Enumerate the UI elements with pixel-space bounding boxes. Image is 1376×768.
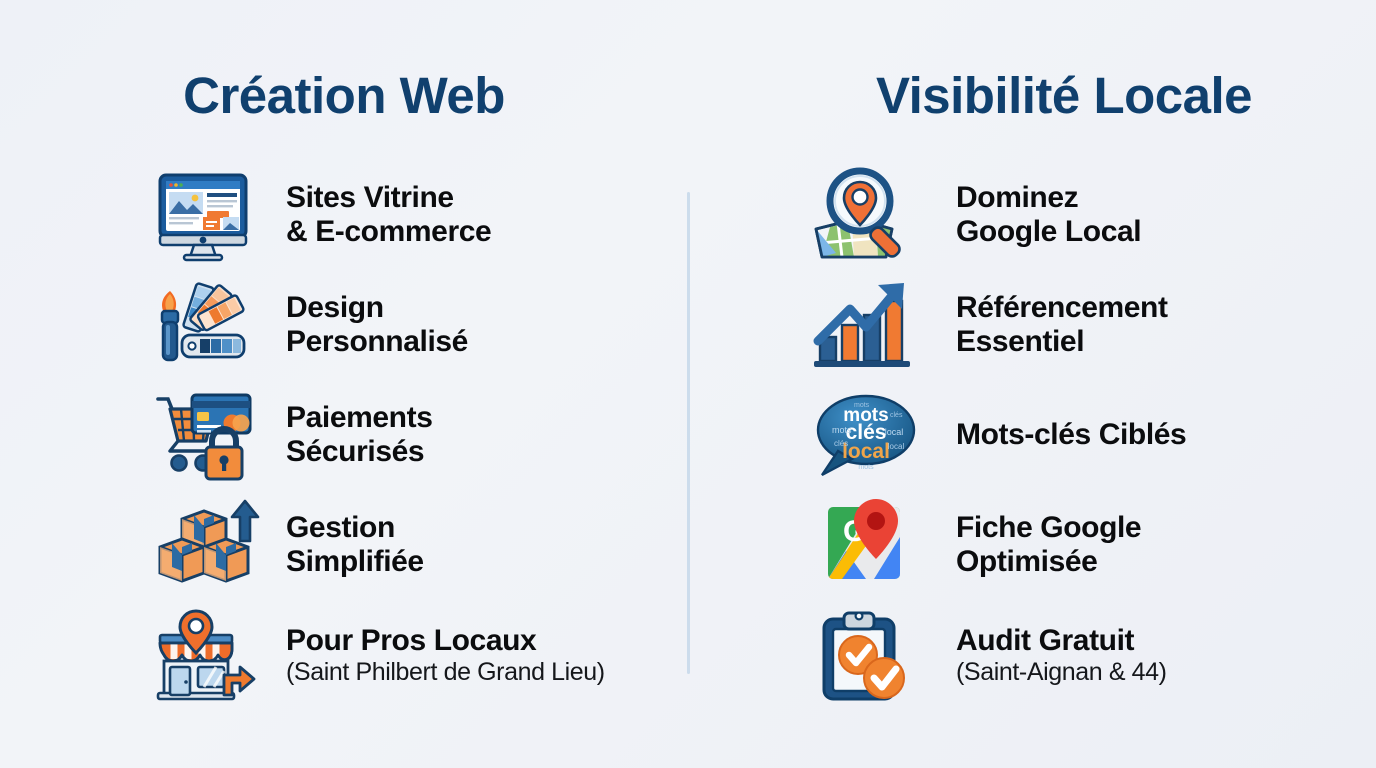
list-item-line1: Gestion [286,511,424,545]
list-item-line2: (Saint-Aignan & 44) [956,658,1167,686]
storefront-pin-icon [148,605,260,705]
boxes-arrow-icon [148,495,260,595]
list-item-line2: Essentiel [956,325,1168,359]
list-item-line1: Référencement [956,291,1168,325]
map-search-pin-icon [808,165,920,265]
keywords-bubble-icon: mots clés local mots local clés local mo… [808,385,920,485]
paintbrush-palette-icon [148,275,260,375]
bubble-word-small-3: mots [854,402,870,409]
bubble-word-small-2: local [888,442,905,451]
list-item-text: Dominez Google Local [956,181,1141,248]
list-item-line1: Sites Vitrine [286,181,491,215]
list-item-text: Pour Pros Locaux (Saint Philbert de Gran… [286,624,605,686]
list-item-line1: Design [286,291,468,325]
bubble-word-local: local [842,440,890,463]
list-item-line1: Audit Gratuit [956,624,1167,658]
list-item-line1: Dominez [956,181,1141,215]
list-item-line2: Sécurisés [286,435,432,469]
list-item-text: Référencement Essentiel [956,291,1168,358]
growth-chart-icon [808,275,920,375]
list-item-line2: Optimisée [956,545,1141,579]
list-item-line1: Mots-clés Ciblés [956,418,1186,452]
list-item[interactable]: Référencement Essentiel [808,270,1376,380]
column-title-left: Création Web [0,66,728,125]
list-item-line2: Personnalisé [286,325,468,359]
list-item-line2: Google Local [956,215,1141,249]
list-item-line1: Paiements [286,401,432,435]
list-item-line1: Fiche Google [956,511,1141,545]
column-creation-web: Création Web [0,0,688,768]
bubble-word-small-5: mots [858,464,874,471]
list-item-line2: & E-commerce [286,215,491,249]
cart-card-lock-icon [148,385,260,485]
list-item[interactable]: Dominez Google Local [808,160,1376,270]
list-item-text: Audit Gratuit (Saint-Aignan & 44) [956,624,1167,686]
infographic-poster: Création Web [0,0,1376,768]
clipboard-check-icon [808,605,920,705]
bubble-word-small-4: clés [890,412,903,419]
list-item[interactable]: Audit Gratuit (Saint-Aignan & 44) [808,600,1376,710]
list-item-line2: (Saint Philbert de Grand Lieu) [286,658,605,686]
bubble-word-small-local: local [885,427,904,437]
list-item-text: Mots-clés Ciblés [956,418,1186,452]
bubble-word-small-mots: mots [832,425,852,435]
list-item-text: Sites Vitrine & E-commerce [286,181,491,248]
website-monitor-icon [148,165,260,265]
bubble-word-small-cles: clés [834,439,848,448]
list-item[interactable]: G Fiche Google Optimisée [808,490,1376,600]
list-item-text: Gestion Simplifiée [286,511,424,578]
list-item[interactable]: mots clés local mots local clés local mo… [808,380,1376,490]
column-title-right: Visibilité Locale [688,66,1376,125]
list-item-text: Fiche Google Optimisée [956,511,1141,578]
list-item-text: Paiements Sécurisés [286,401,432,468]
list-item-text: Design Personnalisé [286,291,468,358]
list-item-line1: Pour Pros Locaux [286,624,605,658]
column-visibilite-locale: Visibilité Locale [688,0,1376,768]
columns-container: Création Web [0,0,1376,768]
google-maps-icon: G [808,495,920,595]
feature-list-right: Dominez Google Local [688,160,1376,710]
list-item-line2: Simplifiée [286,545,424,579]
